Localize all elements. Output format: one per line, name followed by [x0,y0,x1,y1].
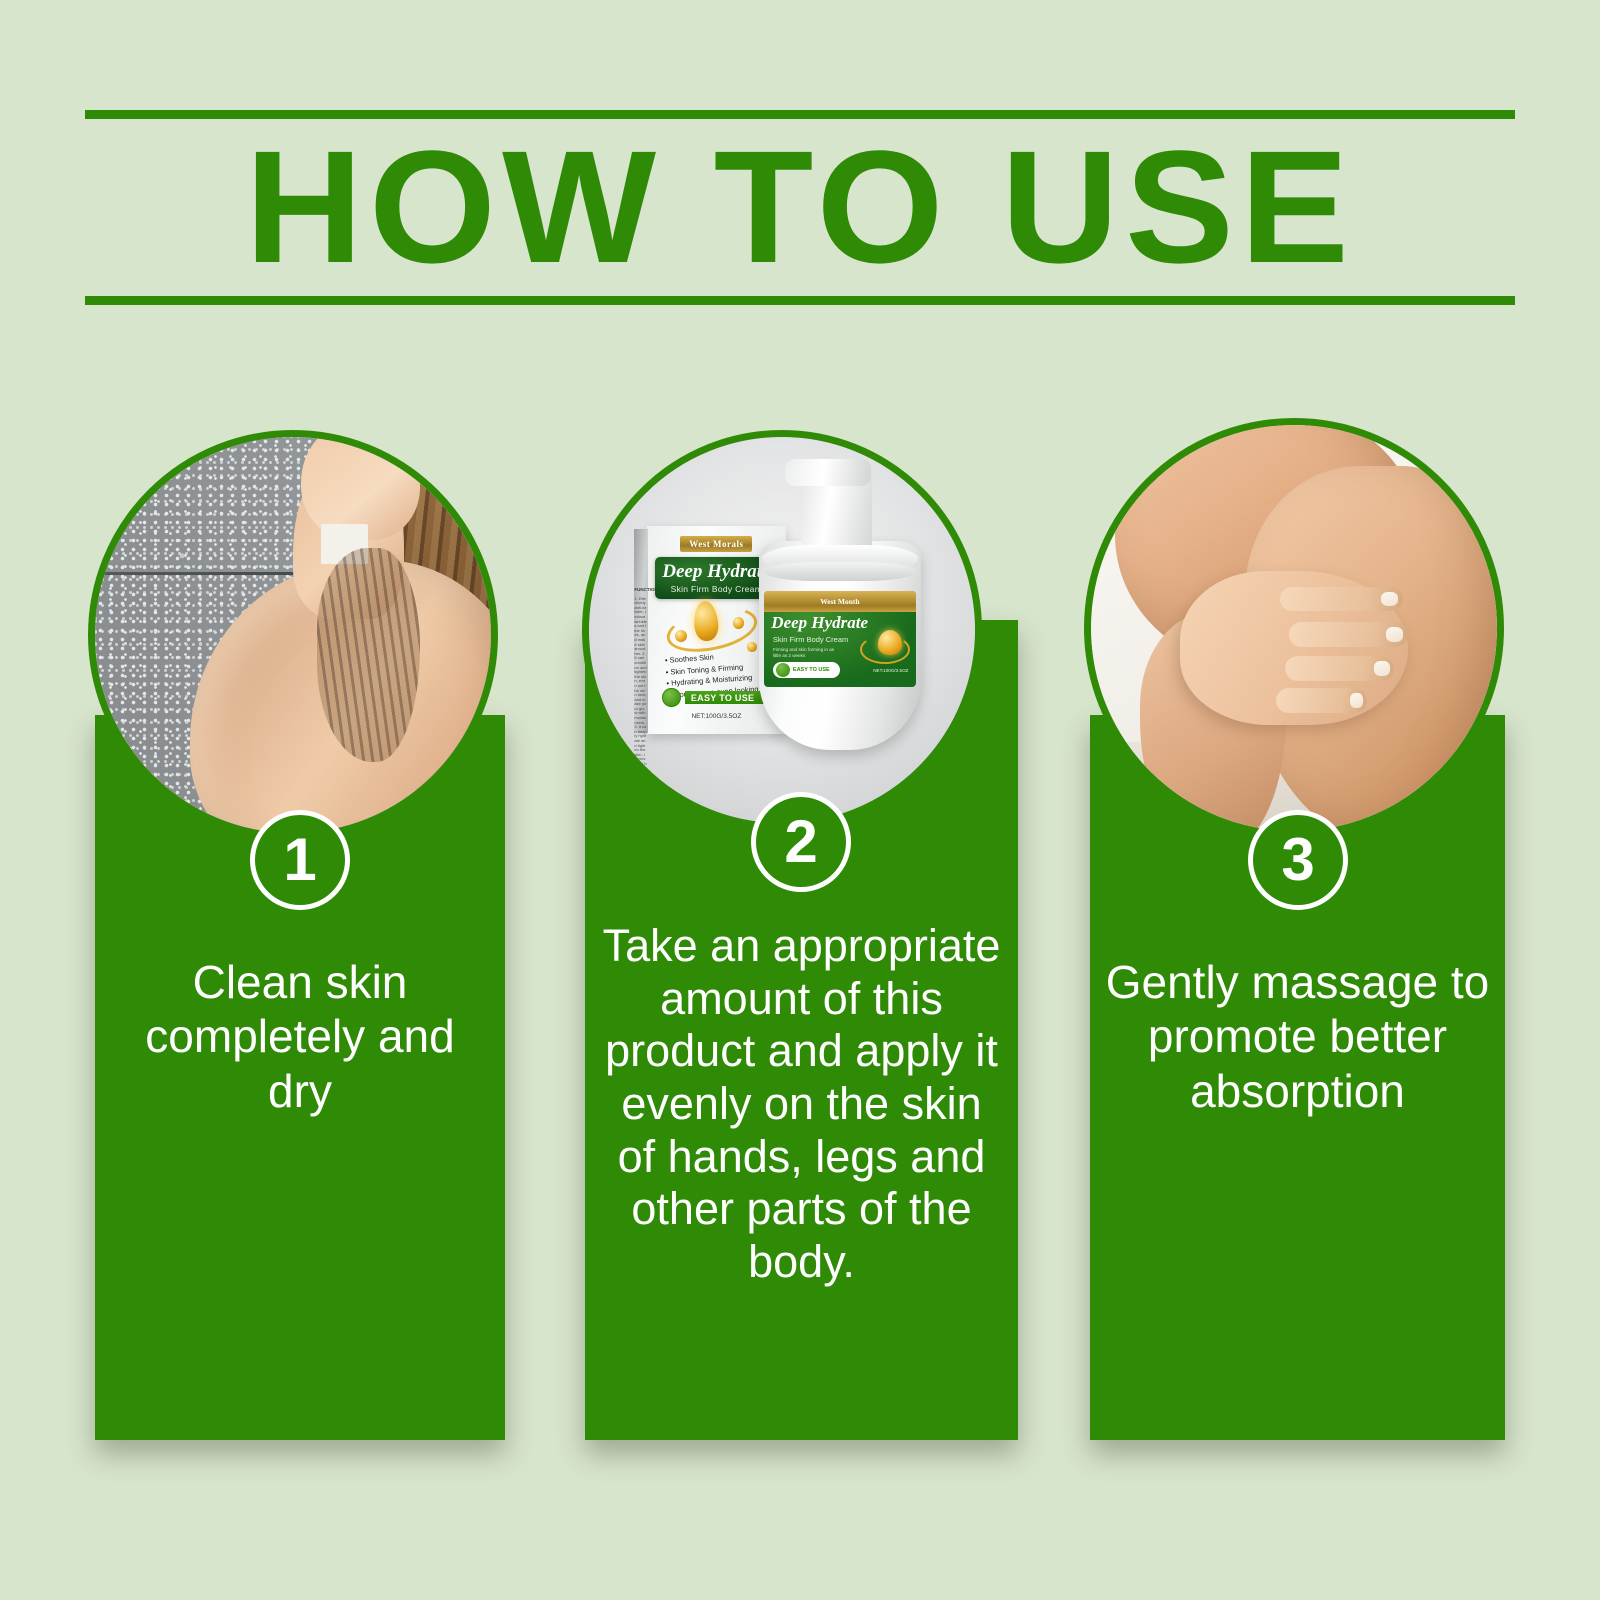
jar-product-subtitle: Skin Firm Body Cream [773,635,848,644]
step-image-3 [1084,418,1504,838]
jar-easy-to-use-badge: EASY TO USE [773,662,840,678]
step-number-badge-3: 3 [1248,810,1348,910]
step-caption-3: Gently massage to promote better absorpt… [1090,955,1505,1118]
step-card-1: 1 Clean skin completely and dry [95,430,505,1440]
step-card-3: 3 Gently massage to promote better absor… [1090,430,1505,1440]
step-caption-2: Take an appropriate amount of this produ… [585,920,1018,1288]
step-image-2: FUNCTIONS: 1. Effectively anti-wrinkle, … [582,430,982,830]
jar-brand-text: West Month [820,597,859,606]
box-functions-title: FUNCTIONS: [634,588,647,593]
box-product-name: Deep Hydrate [662,562,770,581]
jar-product-name: Deep Hydrate [771,614,868,631]
jar-easy-label: EASY TO USE [793,667,830,673]
step-number-badge-2: 2 [751,792,851,892]
step-card-2: FUNCTIONS: 1. Effectively anti-wrinkle, … [585,430,1018,1440]
jar-label: West Month Deep Hydrate Skin Firm Body C… [764,591,916,687]
jar-fine-print: Firming and skin forming in as little as… [773,647,837,659]
steps-container: 1 Clean skin completely and dry FUNCTION… [0,0,1600,1600]
jar-net-weight: NET:100G/3.5OZ [873,668,908,673]
box-easy-to-use-row: EASY TO USE [662,688,773,707]
box-functions-body: 1. Effectively anti-wrinkle, reduce wrin… [634,597,647,823]
box-product-subtitle: Skin Firm Body Cream [671,584,763,594]
box-brand-text: West Morals [689,539,743,549]
box-net-weight: NET:100G/3.5OZ [647,713,786,720]
box-easy-label: EASY TO USE [691,693,755,703]
jar-leaf-drop-icon [776,663,790,677]
jar-pump-icon [801,470,872,549]
jar-oil-drop-icon [878,630,902,655]
step-number-badge-1: 1 [250,810,350,910]
step-image-1 [88,430,498,840]
product-jar: West Month Deep Hydrate Skin Firm Body C… [759,541,921,749]
box-brand-band: West Morals [680,536,752,552]
step-caption-1: Clean skin completely and dry [95,955,505,1118]
oil-drop-icon [693,600,719,641]
leaf-drop-icon [662,688,681,707]
